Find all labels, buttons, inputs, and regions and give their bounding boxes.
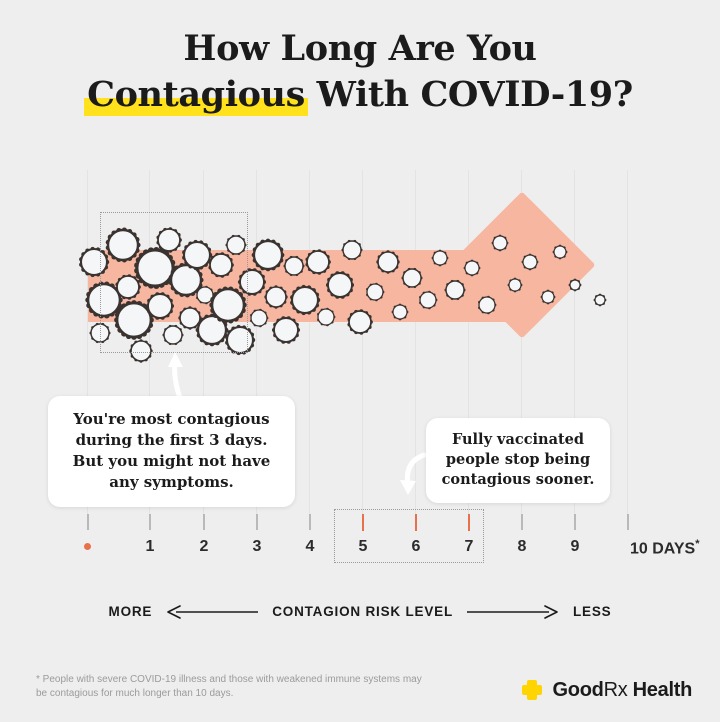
virus-particle (272, 316, 300, 343)
axis-label-day-6: 6 (412, 538, 421, 556)
brand-name-good: Good (553, 679, 604, 701)
virus-particle (419, 291, 437, 310)
virus-particle (283, 256, 304, 276)
virus-particle (347, 309, 372, 335)
virus-particle (522, 254, 539, 271)
virus-particle (594, 294, 607, 307)
virus-particle (444, 280, 465, 300)
virus-particle (478, 296, 496, 315)
axis-tick-day-9 (574, 514, 576, 530)
axis-tick-day-1 (149, 514, 151, 530)
goodrx-cross-icon (520, 678, 544, 702)
contagion-risk-scale: MORE CONTAGION RISK LEVEL LESS (0, 604, 720, 619)
footnote: * People with severe COVID-19 illness an… (36, 673, 426, 701)
virus-particle (366, 283, 384, 302)
axis-tick-day-7 (468, 514, 470, 531)
axis-tick-day-6 (415, 514, 417, 531)
axis-label-day-7: 7 (465, 538, 474, 556)
virus-particle (541, 290, 556, 305)
axis-label-day-9: 9 (571, 538, 580, 556)
axis-label-day-4: 4 (306, 538, 315, 556)
virus-particle (392, 304, 409, 321)
virus-particle (250, 309, 268, 328)
axis-unit-label: 10 DAYS* (630, 538, 700, 558)
axis-tick-day-5 (362, 514, 364, 531)
virus-particle (432, 250, 449, 267)
axis-tick-day-8 (521, 514, 523, 530)
axis-unit-asterisk: * (695, 538, 699, 550)
axis-tick-day-10 (627, 514, 629, 530)
risk-scale-center-label: CONTAGION RISK LEVEL (272, 604, 453, 619)
brand-name-rx: Rx (604, 679, 628, 701)
risk-scale-less-label: LESS (573, 604, 611, 619)
virus-particle (290, 285, 320, 315)
arrow-right-icon (467, 605, 559, 619)
virus-particle (464, 260, 481, 277)
virus-particle (492, 235, 509, 252)
virus-particle (305, 249, 330, 275)
brand-name-health: Health (627, 679, 692, 701)
virus-particle (376, 250, 399, 273)
risk-scale-more-label: MORE (109, 604, 153, 619)
axis-tick-day-2 (203, 514, 205, 530)
title-highlight-word: Contagious (87, 72, 305, 118)
arrow-left-icon (166, 605, 258, 619)
virus-particle (252, 239, 285, 272)
virus-particle (264, 285, 287, 308)
virus-particle (508, 278, 523, 293)
axis-tick-day-0 (87, 514, 89, 530)
axis-label-day-2: 2 (200, 538, 209, 556)
virus-particle (317, 308, 335, 327)
axis-label-day-3: 3 (253, 538, 262, 556)
callout-vaccinated: Fully vaccinated people stop being conta… (426, 418, 610, 503)
axis-tick-day-4 (309, 514, 311, 530)
axis-label-day-5: 5 (359, 538, 368, 556)
axis-tick-day-3 (256, 514, 258, 530)
focus-box-days-five-to-seven (334, 509, 484, 563)
callout-early-contagion: You're most contagious during the first … (48, 396, 295, 507)
axis-label-day-1: 1 (146, 538, 155, 556)
virus-particle (341, 240, 362, 260)
virus-particle (569, 279, 582, 292)
virus-particle (553, 245, 568, 260)
brand-logo: GoodRx Health (520, 678, 692, 702)
virus-particle (326, 271, 354, 298)
virus-particle (401, 268, 422, 288)
brand-name: GoodRx Health (553, 679, 692, 702)
day-zero-marker (84, 543, 91, 550)
focus-box-first-three-days (100, 212, 248, 353)
axis-label-day-8: 8 (518, 538, 527, 556)
